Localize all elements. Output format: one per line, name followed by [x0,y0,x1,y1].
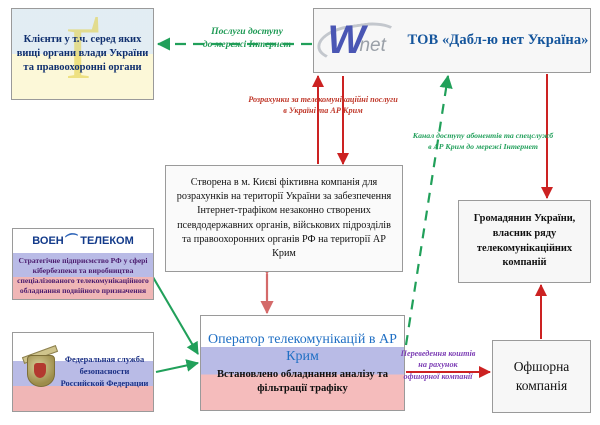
edge-label-access-services: Послуги доступу до мережі Інтернет [186,25,308,51]
edge-label-money-transfer: Переведення коштів на рахунок офшорної к… [382,348,494,382]
fictitious-company-label: Створена в м. Києві фіктивна компанія дл… [166,176,402,262]
arrow-voentelekom-to-crimea [150,272,198,354]
voentelekom-logo-right: ТЕЛЕКОМ [80,235,134,247]
fsb-shield-icon [27,355,55,387]
clients-box-label: Клієнти у т.ч. серед яких вищі органи вл… [12,33,153,75]
edge-label-settlements: Розрахунки за телекомунікаційні послуги … [232,94,414,117]
voentelekom-logo-left: ВОЕН [32,235,64,247]
wnet-company-title: ТОВ «Дабл-ю нет Україна» [407,32,588,49]
wnet-company-box[interactable]: W net ТОВ «Дабл-ю нет Україна» [313,8,591,73]
voentelekom-body: Стратегічне підприємство РФ у сфері кібе… [13,253,153,299]
offshore-company-label: Офшорна компанія [493,358,590,394]
crimea-operator-box[interactable]: Оператор телекомунікацій в АР Крим Встан… [200,315,405,411]
arrow-fsb-to-crimea [156,363,198,372]
fsb-box[interactable]: Федеральная служба безопасности Российск… [12,332,154,412]
wnet-logo-net: net [359,36,385,55]
voentelekom-logo: ВОЕН ⏜ ТЕЛЕКОМ [13,229,153,253]
voentelekom-label: Стратегічне підприємство РФ у сфері кібе… [13,256,153,295]
clients-box[interactable]: Ґ Клієнти у т.ч. серед яких вищі органи … [11,8,154,100]
fsb-emblem-icon [20,349,60,395]
crimea-operator-subtitle: Встановлено обладнання аналізу та фільтр… [201,368,404,396]
diagram-canvas: Ґ Клієнти у т.ч. серед яких вищі органи … [0,0,600,425]
voentelekom-mark-icon: ⏜ [65,232,80,250]
fsb-label: Федеральная служба безопасности Российск… [60,354,153,391]
citizen-owner-box[interactable]: Громадянин України, власник ряду телеком… [458,200,591,283]
crimea-operator-title: Оператор телекомунікацій в АР Крим [201,331,404,365]
voentelekom-box[interactable]: ВОЕН ⏜ ТЕЛЕКОМ Стратегічне підприємство … [12,228,154,300]
edge-label-internet-channel: Канал доступу абонентів та спецслужб в А… [388,131,578,153]
wnet-logo-icon: W net [315,18,401,64]
citizen-owner-label: Громадянин України, власник ряду телеком… [459,212,590,271]
offshore-company-box[interactable]: Офшорна компанія [492,340,591,413]
fictitious-company-box[interactable]: Створена в м. Києві фіктивна компанія дл… [165,165,403,272]
